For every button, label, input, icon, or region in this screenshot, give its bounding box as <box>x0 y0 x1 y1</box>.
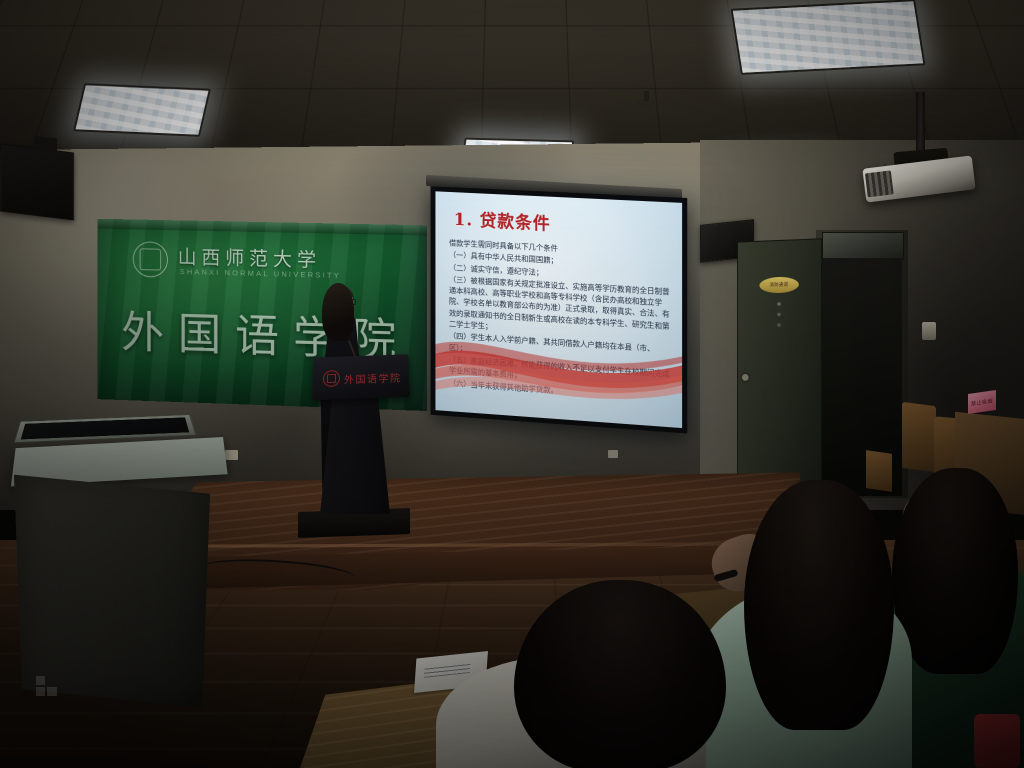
student-3-hair <box>892 468 1018 674</box>
projector-mount-pole <box>916 92 925 154</box>
glasses-icon <box>342 299 356 305</box>
light-switch[interactable] <box>922 322 936 340</box>
entrance-door[interactable]: 消防通道 <box>737 238 822 495</box>
podium-front-panel: 外国语学院 <box>312 354 409 400</box>
ceiling-panel-light-3 <box>731 0 926 75</box>
slide-title: 1. 贷款条件 <box>454 205 551 235</box>
wall-outlet-left <box>225 450 238 460</box>
door-transom-window <box>822 232 904 260</box>
wall-outlet-right <box>608 450 618 458</box>
presenter-hair <box>322 283 354 341</box>
university-seal-icon <box>133 241 168 277</box>
door-sign-label: 消防通道 <box>759 276 799 293</box>
projection-screen: 1. 贷款条件 借款学生需同时具备以下几个条件 （一）具有中华人民共和国国籍； … <box>431 186 688 433</box>
projector-lens-icon <box>865 170 894 197</box>
ceiling-panel-light-1 <box>73 83 211 137</box>
wall-speaker-left-icon <box>0 143 74 220</box>
red-bag <box>974 714 1020 768</box>
college-seal-icon <box>323 370 340 387</box>
console-lid-inner-surface <box>21 417 189 439</box>
slide-body-text: 借款学生需同时具备以下几个条件 （一）具有中华人民共和国国籍； （二）诚实守信，… <box>449 237 672 405</box>
wooden-chair <box>866 450 892 492</box>
door-handle[interactable] <box>742 374 749 381</box>
door-rivets <box>767 301 791 331</box>
console-logo-icon <box>36 676 58 696</box>
podium-college-label: 外国语学院 <box>344 370 402 387</box>
side-desk-sign: 禁止吸烟 <box>968 390 996 414</box>
student-2-hair <box>744 480 894 730</box>
lecture-hall-photo: 山西师范大学 SHANXI NORMAL UNIVERSITY 外国语学院 1.… <box>0 0 1024 768</box>
wooden-chair <box>902 402 936 472</box>
multimedia-teaching-console <box>14 470 210 708</box>
screen-surface: 1. 贷款条件 借款学生需同时具备以下几个条件 （一）具有中华人民共和国国籍； … <box>435 191 682 428</box>
